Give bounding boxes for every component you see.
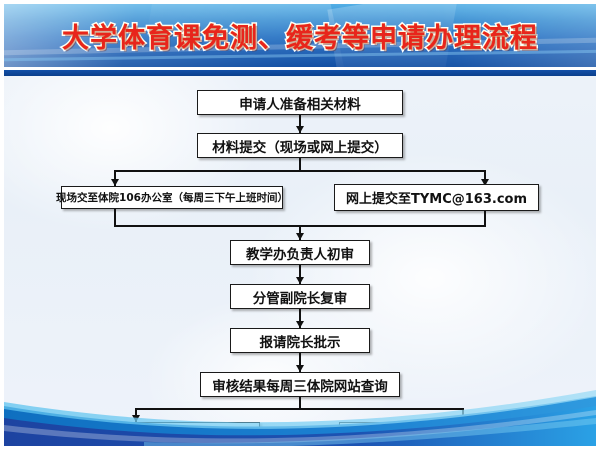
page-title: 大学体育课免测、缓考等申请办理流程: [4, 4, 596, 67]
flow-node-n1: 申请人准备相关材料: [197, 90, 403, 115]
poster-inner: 大学体育课免测、缓考等申请办理流程 申请人准备相关材料 材料提交（现场或网上提交…: [4, 4, 596, 446]
edge-bus-horizontal-top: [114, 170, 486, 172]
flow-node-label: 分管副院长复审: [253, 287, 348, 307]
flow-node-n5: 分管副院长复审: [230, 284, 370, 309]
edge-n3a-merge: [114, 209, 116, 226]
edge-bus-left-arrowhead: [111, 179, 119, 186]
flow-node-label: 网上提交至TYMC@163.com: [346, 188, 527, 207]
flow-node-label: 申请人准备相关材料: [239, 93, 361, 113]
bottom-wave-decoration: [4, 384, 596, 446]
edge-merge-arrowhead: [296, 233, 304, 240]
edge-n5-n6-arrowhead: [296, 321, 304, 328]
flow-node-label: 教学办负责人初审: [246, 243, 354, 263]
flow-node-n2: 材料提交（现场或网上提交）: [197, 133, 403, 158]
flow-node-n3a: 现场交至体院106办公室（每周三下午上班时间）: [61, 186, 283, 209]
edge-n1-n2-arrowhead: [296, 126, 304, 133]
edge-n6-n7-arrowhead: [296, 365, 304, 372]
flow-node-n6: 报请院长批示: [230, 328, 370, 353]
edge-n4-n5-arrowhead: [296, 277, 304, 284]
flow-node-n3b: 网上提交至TYMC@163.com: [334, 184, 539, 211]
flow-node-label: 材料提交（现场或网上提交）: [212, 136, 388, 156]
wave-svg: [4, 384, 596, 446]
flow-node-n4: 教学办负责人初审: [230, 240, 370, 265]
flow-node-label: 现场交至体院106办公室（每周三下午上班时间）: [56, 190, 288, 205]
flow-node-label: 报请院长批示: [260, 331, 341, 351]
edge-n3b-merge: [484, 211, 486, 226]
poster: 大学体育课免测、缓考等申请办理流程 申请人准备相关材料 材料提交（现场或网上提交…: [0, 0, 600, 450]
